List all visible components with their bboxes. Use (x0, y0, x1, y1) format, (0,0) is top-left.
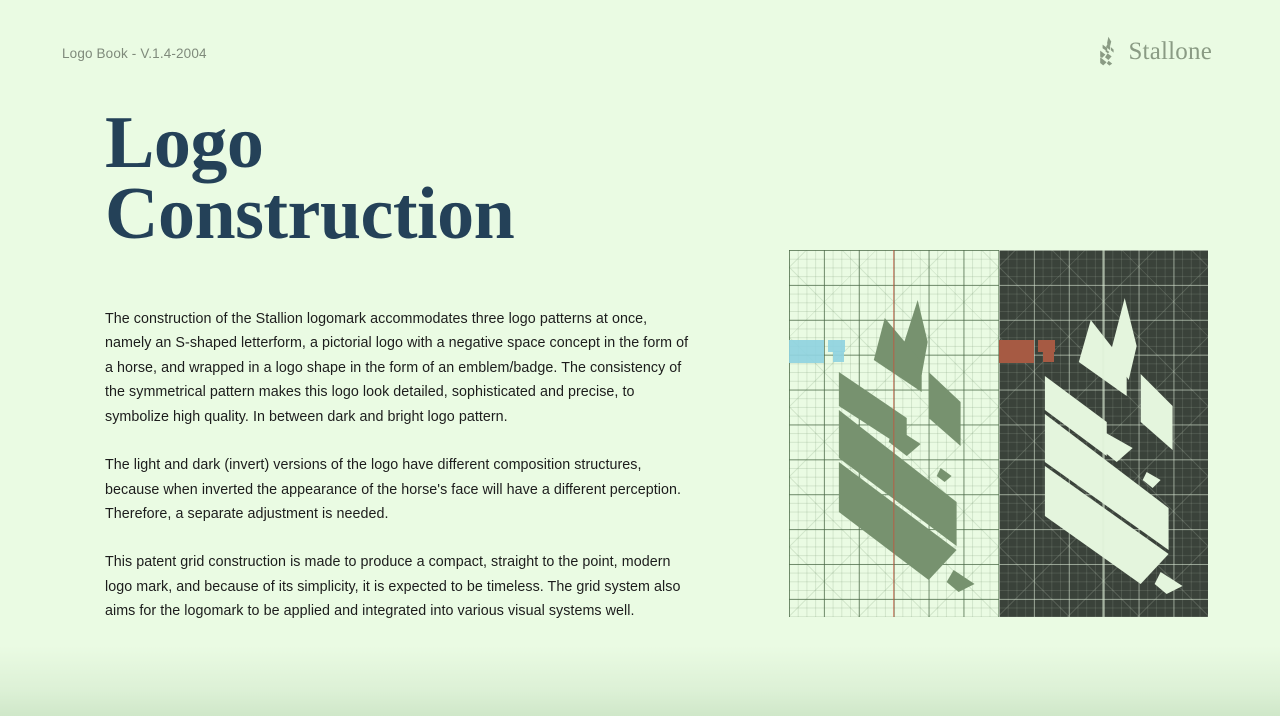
brand-name-label: Stallone (1128, 39, 1212, 64)
brand-lockup: Stallone (1095, 36, 1212, 66)
content-column: Logo Construction The construction of th… (105, 108, 705, 624)
dark-invert-version-grid-panel (999, 250, 1209, 617)
light-version-grid-panel (789, 250, 999, 617)
body-copy: The construction of the Stallion logomar… (105, 307, 705, 623)
dark-panel-swatch-chip-2 (1043, 351, 1054, 362)
bottom-vignette (0, 646, 1280, 716)
dark-panel-center-axis (1103, 250, 1104, 617)
paragraph-2: The light and dark (invert) versions of … (105, 453, 695, 526)
light-panel-center-axis (893, 250, 894, 617)
stallone-horse-logomark-icon (1095, 36, 1119, 66)
light-panel-color-swatch (789, 340, 824, 363)
slide-canvas: Logo Book - V.1.4-2004 (0, 0, 1280, 716)
light-panel-swatch-chip-2 (833, 351, 844, 362)
paragraph-3: This patent grid construction is made to… (105, 550, 695, 623)
page-title: Logo Construction (105, 108, 705, 250)
slide-header: Logo Book - V.1.4-2004 (0, 0, 1280, 100)
dark-panel-color-swatch (999, 340, 1034, 363)
paragraph-1: The construction of the Stallion logomar… (105, 307, 695, 429)
logo-construction-graphic (789, 250, 1208, 617)
document-version-label: Logo Book - V.1.4-2004 (62, 46, 207, 61)
